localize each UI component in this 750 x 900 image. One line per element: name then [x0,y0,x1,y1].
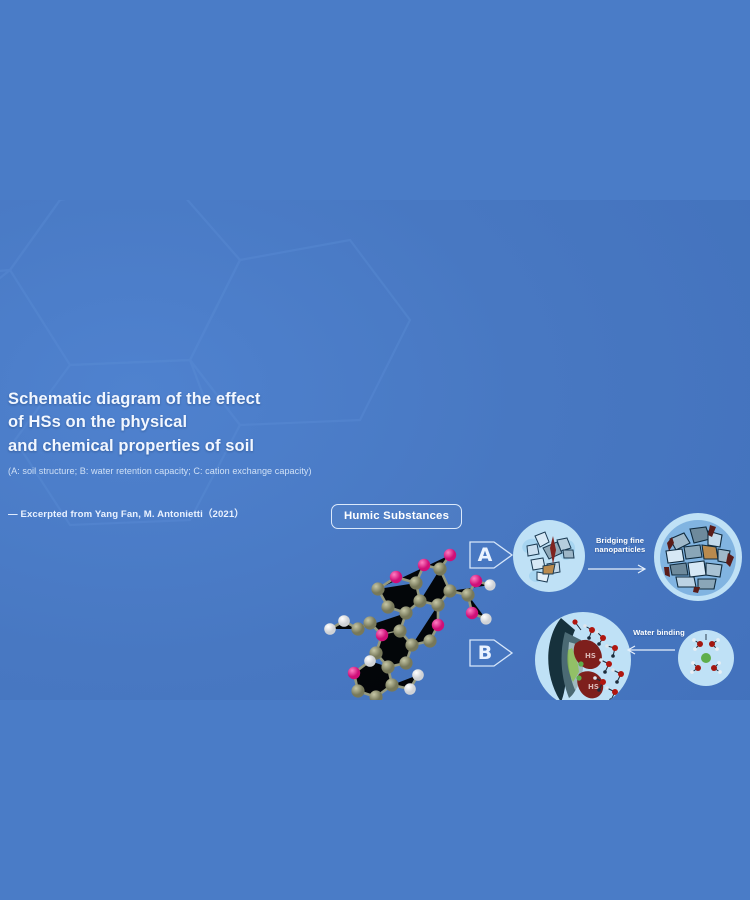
svg-text:HS: HS [585,652,596,660]
row-a-arrow-marker: A [468,534,514,576]
source-credit: — Excerpted from Yang Fan, M. Antonietti… [8,506,338,520]
title-line-1: Schematic diagram of the effect [8,388,338,411]
row-b-arrow-marker: B [468,632,514,674]
row-a-connector-arrow [588,562,652,576]
row-b-arrow-label-line1: Water binding [627,628,691,637]
subtitle-legend: (A: soil structure; B: water retention c… [8,465,338,477]
figure-panel: Schematic diagram of the effect of HSs o… [0,200,750,700]
row-a-arrow-label-line2: nanoparticles [584,545,656,554]
row-a-arrow-label: Bridging fine nanoparticles [584,536,656,554]
text-block: Schematic diagram of the effect of HSs o… [8,388,338,520]
circle-hydrated-cation-cluster [678,630,734,686]
row-a-letter: A [468,534,502,576]
circle-aggregated-soil-particles [654,513,742,601]
title-line-3: and chemical properties of soil [8,435,338,458]
title-line-2: of HSs on the physical [8,411,338,434]
page-title: Schematic diagram of the effect of HSs o… [8,388,338,458]
row-b-connector-arrow [627,643,675,657]
circle-hs-coated-mineral-surface: HS HS [535,612,631,700]
page-background: Schematic diagram of the effect of HSs o… [0,0,750,900]
row-b-arrow-label: Water binding [627,628,691,637]
row-b-letter: B [468,632,502,674]
circle-dispersed-mineral-fragments [513,520,585,592]
row-a-arrow-label-line1: Bridging fine [584,536,656,545]
